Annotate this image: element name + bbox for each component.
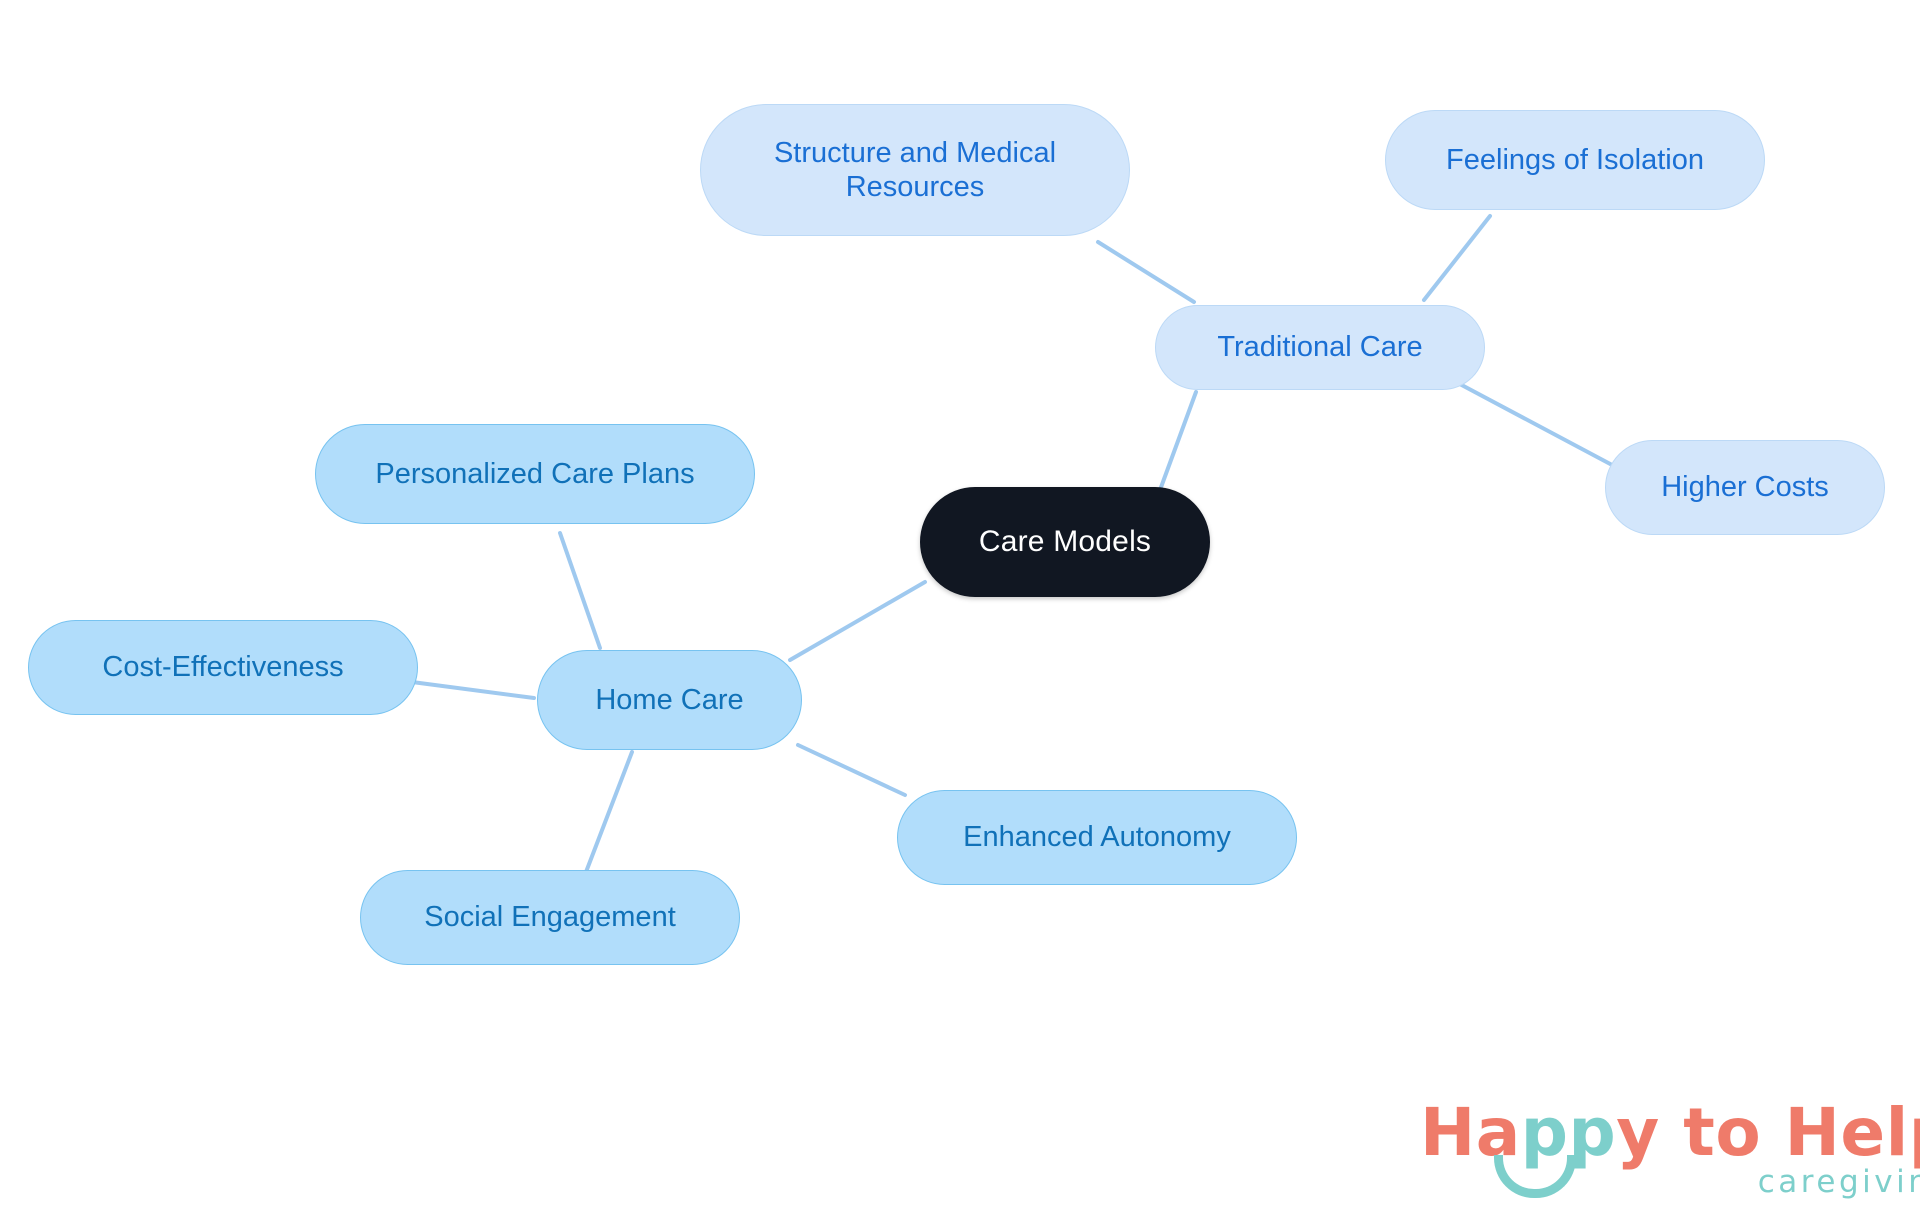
node-feelings-of-isolation[interactable]: Feelings of Isolation [1385,110,1765,210]
node-label: Enhanced Autonomy [963,820,1231,854]
edge-home-care-to-social-engagement [586,752,632,872]
node-label: Social Engagement [424,900,676,934]
node-label: Higher Costs [1661,470,1829,504]
node-structure-and-medical-resources[interactable]: Structure and Medical Resources [700,104,1130,236]
happy-to-help-logo: Happy to Help caregiving [1420,1100,1920,1166]
smile-icon [1494,1155,1576,1198]
node-home-care[interactable]: Home Care [537,650,802,750]
edge-traditional-care-to-structure-and-medical-resources [1098,242,1194,302]
mindmap-canvas: Care Models Traditional Care Structure a… [0,0,1920,1215]
edge-traditional-care-to-higher-costs [1456,382,1614,466]
node-label: Structure and Medical Resources [774,136,1056,204]
node-label: Cost-Effectiveness [102,650,343,684]
node-traditional-care[interactable]: Traditional Care [1155,305,1485,390]
edge-home-care-to-personalized-care-plans [560,533,600,648]
node-cost-effectiveness[interactable]: Cost-Effectiveness [28,620,418,715]
edge-home-care-to-cost-effectiveness [412,682,534,698]
node-label: Personalized Care Plans [375,457,694,491]
edge-care-models-to-home-care [790,582,925,660]
edge-home-care-to-enhanced-autonomy [798,745,905,795]
node-personalized-care-plans[interactable]: Personalized Care Plans [315,424,755,524]
node-enhanced-autonomy[interactable]: Enhanced Autonomy [897,790,1297,885]
edge-traditional-care-to-feelings-of-isolation [1424,216,1490,300]
logo-tagline: caregiving [1758,1164,1920,1200]
edge-care-models-to-traditional-care [1160,392,1196,490]
logo-word-part-3: y to Help [1616,1094,1920,1171]
node-higher-costs[interactable]: Higher Costs [1605,440,1885,535]
node-label: Care Models [979,524,1151,559]
node-social-engagement[interactable]: Social Engagement [360,870,740,965]
node-care-models[interactable]: Care Models [920,487,1210,597]
node-label: Home Care [595,683,743,717]
node-label: Traditional Care [1217,330,1422,364]
node-label: Feelings of Isolation [1446,143,1704,177]
